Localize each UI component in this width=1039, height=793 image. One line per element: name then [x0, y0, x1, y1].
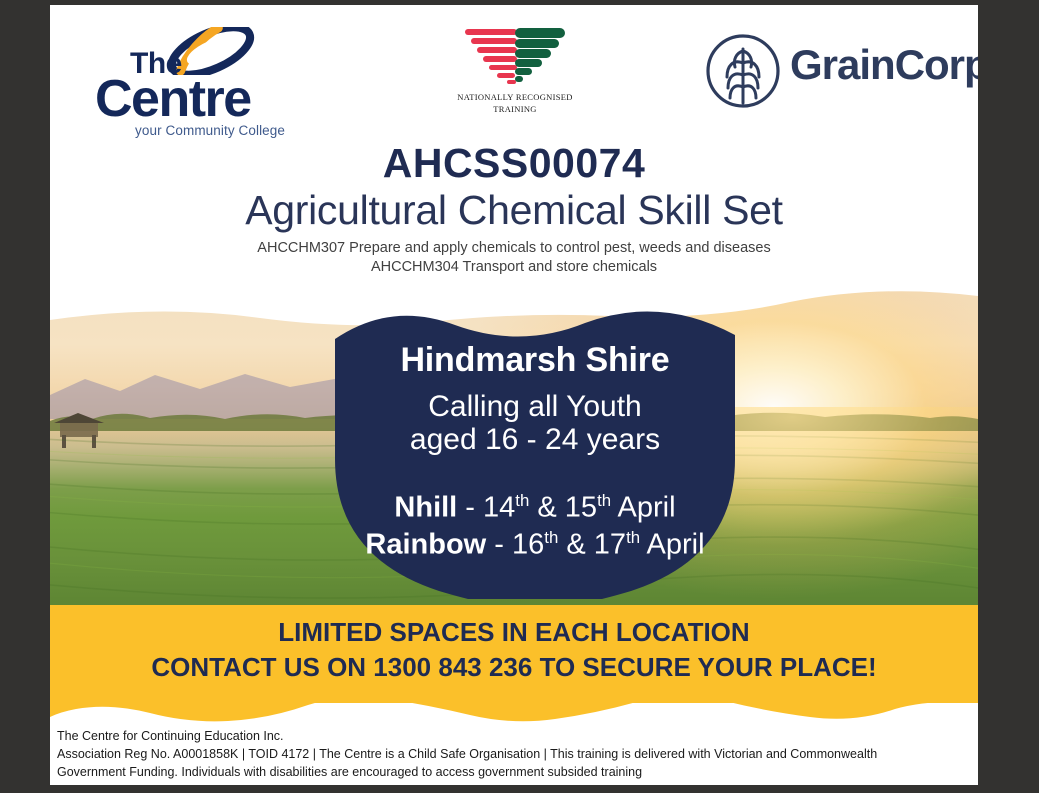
- graincorp-logo: GrainCorp: [705, 33, 955, 113]
- session-amp-rainbow: &: [558, 529, 593, 561]
- session-month-rainbow: April: [640, 529, 704, 561]
- session-line-rainbow: Rainbow - 16th & 17th April: [331, 528, 739, 562]
- session-date2-suffix-nhill: th: [597, 491, 611, 510]
- session-sep-rainbow: -: [486, 529, 512, 561]
- centre-logo-tagline: your Community College: [135, 123, 285, 138]
- flyer-page: The Centre your Community College: [50, 5, 978, 785]
- nrt-triangle-icon: [455, 27, 575, 85]
- session-date1-suffix-rainbow: th: [544, 528, 558, 547]
- footer-line-3: Government Funding. Individuals with dis…: [57, 763, 972, 781]
- session-date1-suffix-nhill: th: [515, 491, 529, 510]
- badge-age-range: aged 16 - 24 years: [331, 423, 739, 457]
- session-date2-suffix-rainbow: th: [626, 528, 640, 547]
- unit-line-1: AHCCHM307 Prepare and apply chemicals to…: [50, 240, 978, 256]
- centre-logo-main: Centre: [95, 69, 251, 129]
- graincorp-wordmark: GrainCorp: [790, 41, 978, 89]
- unit-line-2: AHCCHM304 Transport and store chemicals: [50, 259, 978, 275]
- session-sep-nhill: -: [457, 492, 483, 524]
- banner-line-contact-us: CONTACT US ON 1300 843 236 TO SECURE YOU…: [50, 652, 978, 683]
- nrt-label-line-2: TRAINING: [455, 104, 575, 114]
- badge-calling-line: Calling all Youth: [331, 390, 739, 424]
- graincorp-wheat-icon: [705, 33, 781, 109]
- badge-shire-heading: Hindmarsh Shire: [331, 341, 739, 380]
- course-name-title: Agricultural Chemical Skill Set: [50, 187, 978, 234]
- logo-row: The Centre your Community College: [50, 5, 978, 130]
- footer-fine-print: The Centre for Continuing Education Inc.…: [57, 727, 972, 781]
- the-centre-logo: The Centre your Community College: [90, 25, 285, 135]
- session-date1-rainbow: 16: [512, 529, 544, 561]
- session-month-nhill: April: [611, 492, 675, 524]
- banner-line-limited-spaces: LIMITED SPACES IN EACH LOCATION: [50, 617, 978, 648]
- session-date2-rainbow: 17: [594, 529, 626, 561]
- footer-line-2: Association Reg No. A0001858K | TOID 417…: [57, 745, 972, 763]
- call-to-action-banner: LIMITED SPACES IN EACH LOCATION CONTACT …: [50, 605, 978, 727]
- session-date2-nhill: 15: [565, 492, 597, 524]
- session-town-nhill: Nhill: [394, 492, 457, 524]
- session-town-rainbow: Rainbow: [365, 529, 486, 561]
- nationally-recognised-training-logo: NATIONALLY RECOGNISED TRAINING: [455, 27, 575, 122]
- session-line-nhill: Nhill - 14th & 15th April: [331, 491, 739, 525]
- course-code-title: AHCSS00074: [50, 140, 978, 187]
- screenshot-canvas: The Centre your Community College: [0, 0, 1039, 793]
- footer-line-1: The Centre for Continuing Education Inc.: [57, 727, 972, 745]
- session-date1-nhill: 14: [483, 492, 515, 524]
- hindmarsh-shire-badge: Hindmarsh Shire Calling all Youth aged 1…: [331, 309, 739, 599]
- banner-bottom-wave: [50, 695, 978, 731]
- session-amp-nhill: &: [529, 492, 564, 524]
- nrt-label-line-1: NATIONALLY RECOGNISED: [455, 92, 575, 102]
